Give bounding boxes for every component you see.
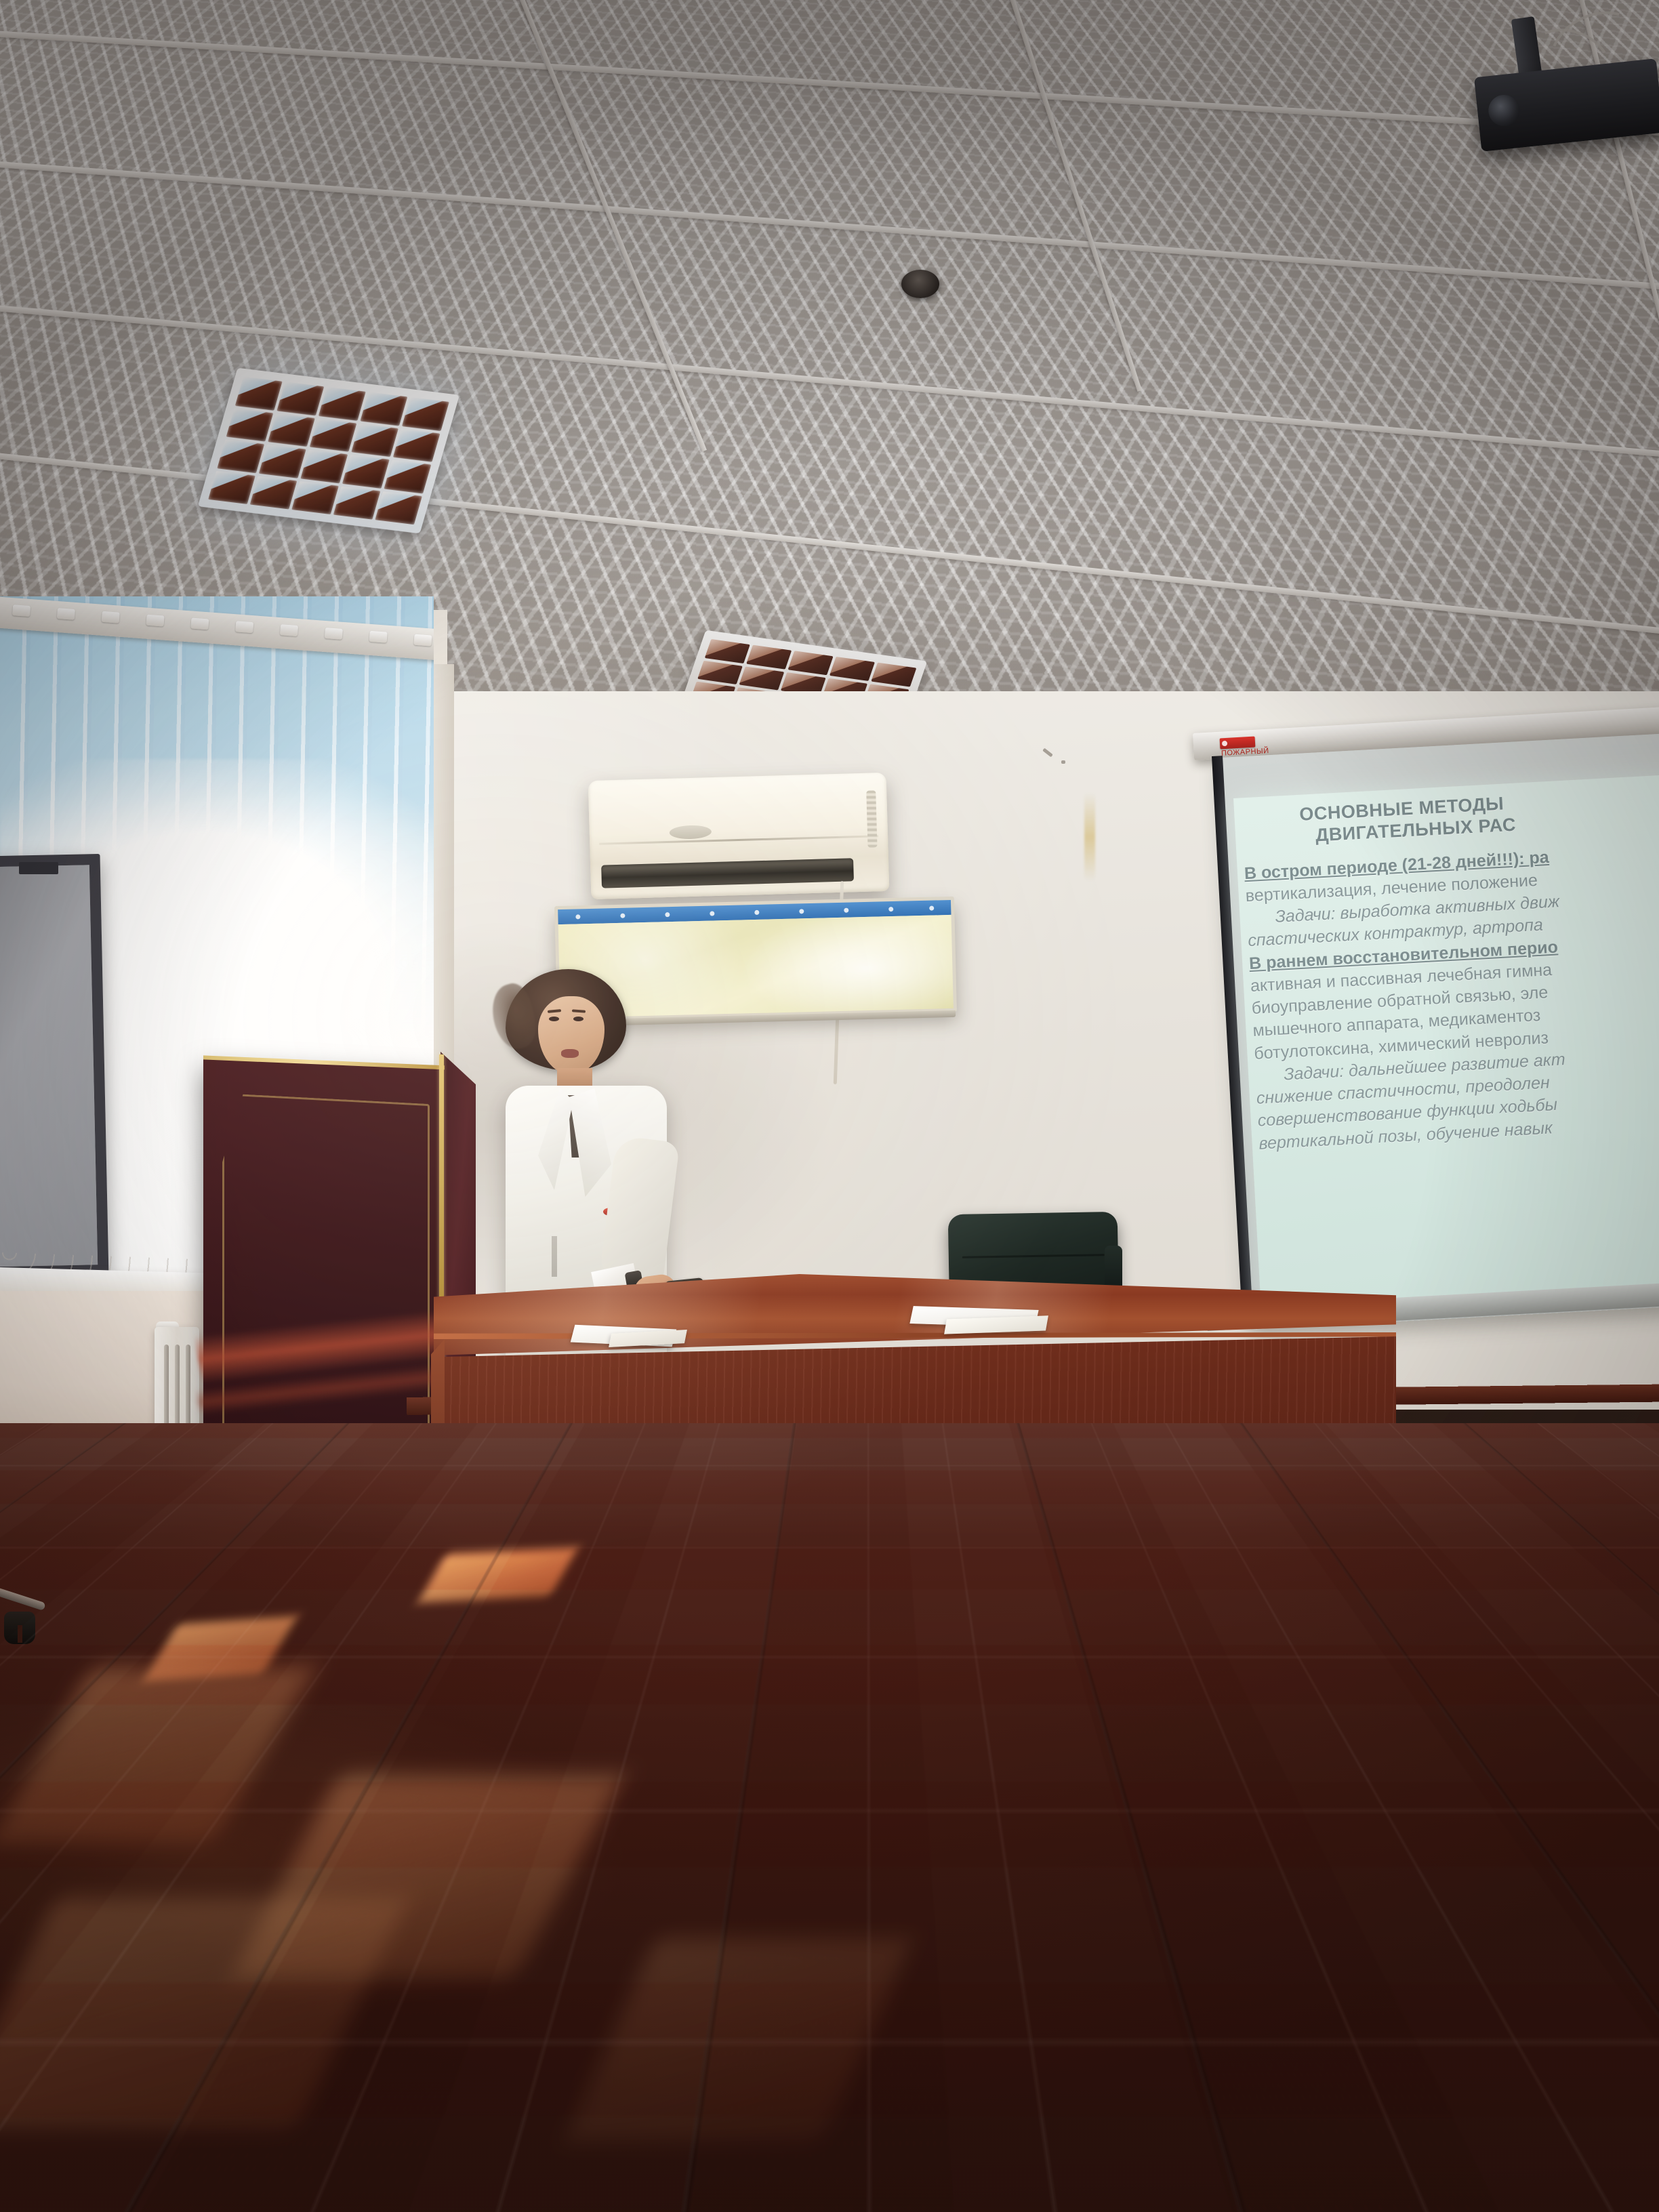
- wall-board-clip: [19, 862, 58, 874]
- presenter-eye-right: [573, 1017, 583, 1021]
- ac-seam: [599, 835, 878, 845]
- presenter-badge-lanyard: [552, 1236, 557, 1277]
- wall-board-left: [0, 854, 108, 1278]
- projected-slide: ОСНОВНЫЕ МЕТОДЫ ДВИГАТЕЛЬНЫХ РАС В остро…: [1233, 774, 1659, 1313]
- wall-mark: [1061, 760, 1065, 764]
- floor-reflection: [0, 1423, 1659, 2212]
- lecture-hall-photo: ПОЖАРНЫЙ ОСНОВНЫЕ МЕТОДЫ ДВИГАТЕЛЬНЫХ РА…: [0, 0, 1659, 2212]
- ac-side-vent: [866, 790, 877, 847]
- parquet-floor: [0, 1423, 1659, 2212]
- air-conditioner: [588, 773, 890, 899]
- presenter-mouth: [561, 1049, 579, 1058]
- projector-lens-icon: [1487, 94, 1521, 128]
- ac-badge-icon: [670, 825, 712, 840]
- ac-louver: [601, 858, 854, 888]
- slide-body: В остром периоде (21-28 дней!!!): ра вер…: [1236, 827, 1659, 1155]
- wall-stain: [1084, 793, 1095, 881]
- presenter-eye-left: [549, 1017, 559, 1021]
- chair-caster-split: [18, 1625, 22, 1643]
